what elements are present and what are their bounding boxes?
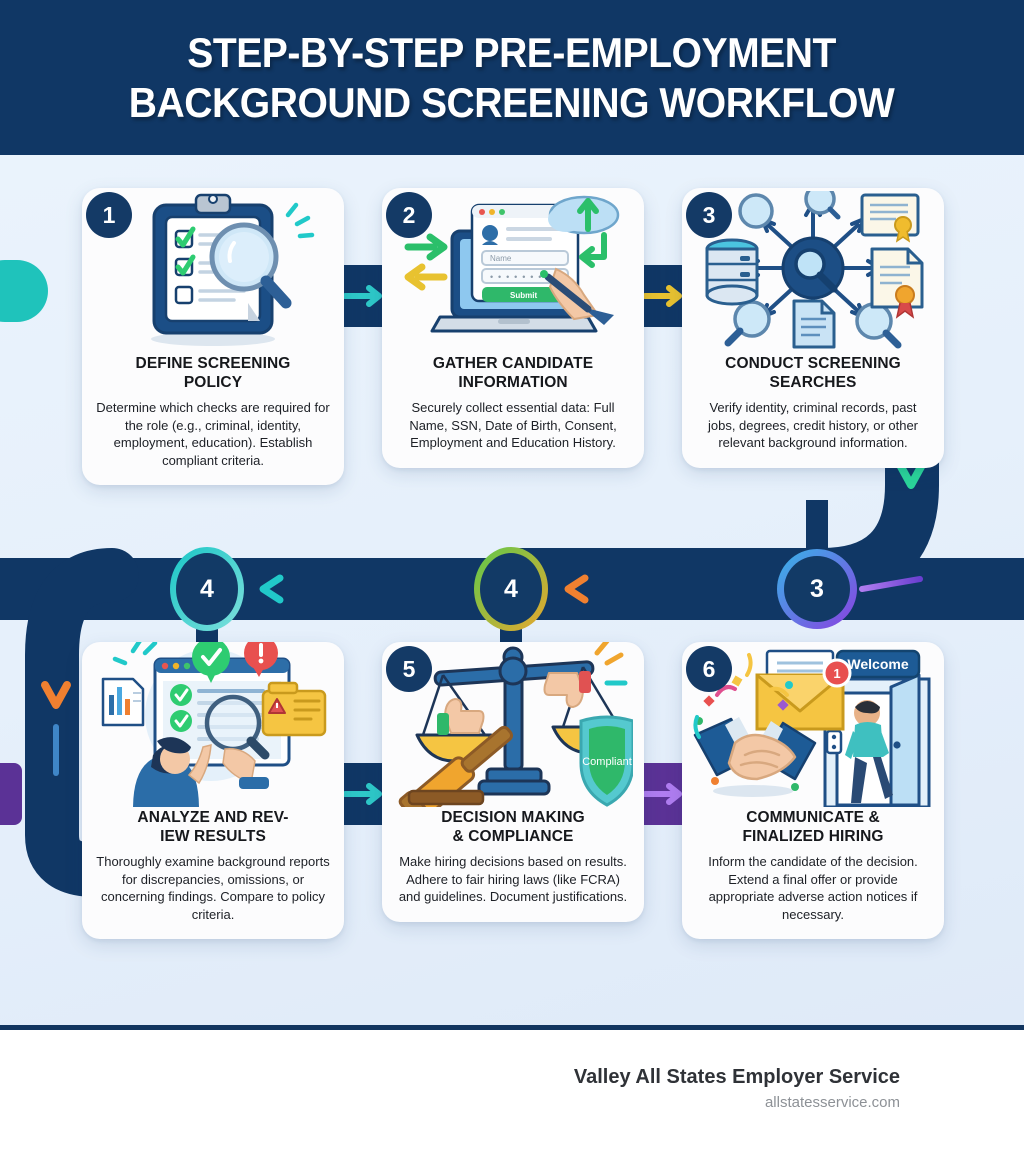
- step-badge-1: 1: [86, 192, 132, 238]
- footer-company-name: Valley All States Employer Service: [574, 1066, 900, 1089]
- step-card-3[interactable]: 3: [682, 188, 944, 468]
- header-banner: STEP-BY-STEP PRE-EMPLOYMENT BACKGROUND S…: [0, 0, 1024, 155]
- card-body-4: Thoroughly examine background reports fo…: [82, 846, 344, 939]
- step-card-6[interactable]: 6 Welcome: [682, 642, 944, 939]
- step-badge-3: 3: [686, 192, 732, 238]
- clipboard-checklist-magnifier-icon: [98, 191, 328, 351]
- card-title-3: CONDUCT SCREENING SEARCHES: [682, 355, 944, 392]
- step-card-4[interactable]: ANALYZE AND REV- IEW RESULTS Thoroughly …: [82, 642, 344, 939]
- arrow-right-icon: [343, 783, 383, 805]
- arrow-right-icon: [643, 285, 683, 307]
- connector-left-stub-row2: [0, 763, 22, 825]
- form-submit-text: Submit: [510, 291, 537, 300]
- step-card-1[interactable]: 1: [82, 188, 344, 485]
- flow-node-text: 4: [200, 575, 214, 604]
- analyst-reviewing-report-icon: [93, 642, 333, 807]
- arrow-right-icon: [343, 285, 383, 307]
- flow-node-label-1: 4: [176, 553, 238, 625]
- arrow-right-icon: [643, 783, 683, 805]
- card-body-1: Determine which checks are required for …: [82, 392, 344, 485]
- envelope-badge-text: 1: [833, 666, 840, 681]
- workflow-canvas: 4 4 3: [0, 155, 1024, 1025]
- card-title-4: ANALYZE AND REV- IEW RESULTS: [82, 809, 344, 846]
- form-field-password-text: • • • • • • •: [490, 272, 543, 282]
- page-title: STEP-BY-STEP PRE-EMPLOYMENT BACKGROUND S…: [129, 28, 895, 127]
- footer: Valley All States Employer Service allst…: [0, 1030, 1024, 1154]
- step-badge-2: 2: [386, 192, 432, 238]
- card-body-6: Inform the candidate of the decision. Ex…: [682, 846, 944, 939]
- step-card-5[interactable]: 5: [382, 642, 644, 922]
- card-body-2: Securely collect essential data: Full Na…: [382, 392, 644, 468]
- card-title-1: DEFINE SCREENING POLICY: [82, 355, 344, 392]
- infographic-page: STEP-BY-STEP PRE-EMPLOYMENT BACKGROUND S…: [0, 0, 1024, 1154]
- flow-node-text: 3: [810, 575, 824, 604]
- flow-node-text: 4: [504, 575, 518, 604]
- shield-compliant-text: Compliant: [582, 756, 632, 768]
- card-illustration-4: [82, 642, 344, 807]
- step-badge-5: 5: [386, 646, 432, 692]
- card-body-5: Make hiring decisions based on results. …: [382, 846, 644, 922]
- card-title-5: DECISION MAKING & COMPLIANCE: [382, 809, 644, 846]
- step-card-2[interactable]: 2 Name: [382, 188, 644, 468]
- flow-node-label-2: 4: [480, 553, 542, 625]
- card-title-6: COMMUNICATE & FINALIZED HIRING: [682, 809, 944, 846]
- door-welcome-text: Welcome: [847, 656, 908, 672]
- form-field-name-text: Name: [490, 254, 512, 263]
- flow-node-label-3: 3: [786, 553, 848, 625]
- footer-website-url[interactable]: allstatesservice.com: [765, 1094, 900, 1111]
- card-title-2: GATHER CANDIDATE INFORMATION: [382, 355, 644, 392]
- laptop-form-cloud-icon: Name • • • • • • • Submit: [398, 191, 628, 351]
- card-body-3: Verify identity, criminal records, past …: [682, 392, 944, 468]
- step-badge-6: 6: [686, 646, 732, 692]
